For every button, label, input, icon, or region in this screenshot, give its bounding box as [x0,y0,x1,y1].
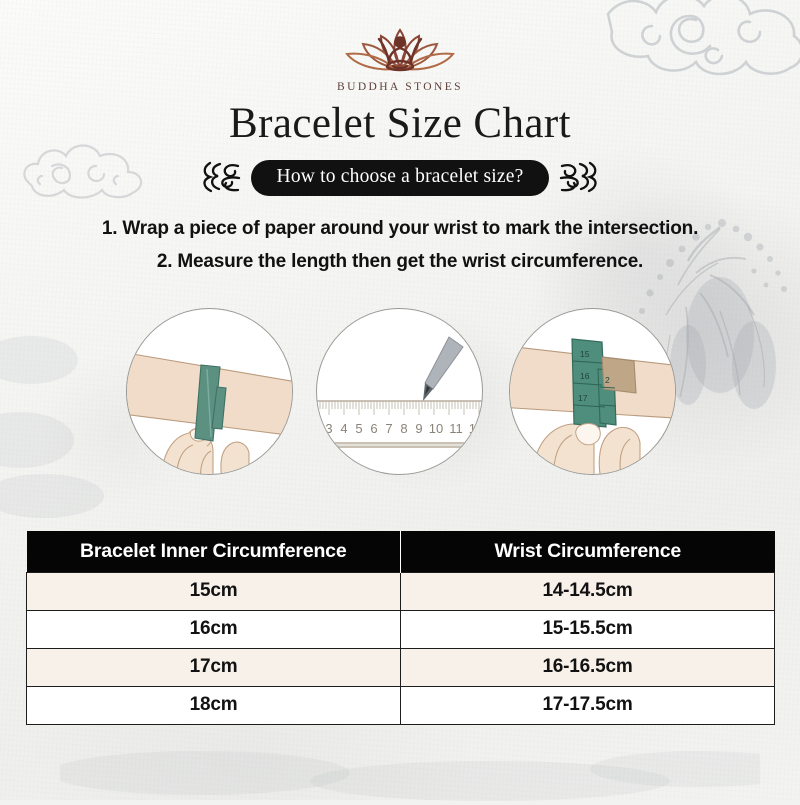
illustration-wrap-paper [126,308,293,475]
svg-text:3: 3 [325,421,332,436]
cell-bracelet-size: 17cm [27,648,401,686]
svg-text:8: 8 [400,421,407,436]
page-title: Bracelet Size Chart [0,99,800,148]
svg-text:5: 5 [355,421,362,436]
cell-bracelet-size: 18cm [27,686,401,724]
instruction-step-1: 1. Wrap a piece of paper around your wri… [0,212,800,245]
banner-text: How to choose a bracelet size? [251,160,550,196]
table-row: 15cm 14-14.5cm [27,572,775,610]
cell-wrist-size: 16-16.5cm [401,648,775,686]
svg-text:15: 15 [580,349,590,359]
illustration-tape-measure: 15 16 17 2 [509,308,676,475]
instruction-step-2: 2. Measure the length then get the wrist… [0,245,800,278]
brand-logo: BUDDHA STONES [0,22,800,93]
column-header-wrist-circumference: Wrist Circumference [401,531,775,572]
ruler-and-pencil-icon: 34 56 78 910 1112 [317,309,483,475]
instruction-steps: 1. Wrap a piece of paper around your wri… [0,212,800,278]
lotus-meditation-icon [337,22,463,80]
table-header-row: Bracelet Inner Circumference Wrist Circu… [27,531,775,572]
svg-text:6: 6 [370,421,377,436]
size-chart-page: BUDDHA STONES Bracelet Size Chart How to… [0,0,800,800]
table-row: 17cm 16-16.5cm [27,648,775,686]
banner-row: How to choose a bracelet size? [0,160,800,196]
cell-wrist-size: 14-14.5cm [401,572,775,610]
table-row: 18cm 17-17.5cm [27,686,775,724]
cell-wrist-size: 15-15.5cm [401,610,775,648]
column-header-bracelet-inner-circumference: Bracelet Inner Circumference [27,531,401,572]
flourish-ornament-left-icon [198,161,242,195]
svg-text:12: 12 [469,421,483,436]
svg-text:10: 10 [429,421,443,436]
svg-text:7: 7 [385,421,392,436]
wrist-with-paper-strip-icon [127,309,293,475]
svg-text:16: 16 [580,371,590,381]
cell-wrist-size: 17-17.5cm [401,686,775,724]
svg-text:2: 2 [605,375,610,385]
illustration-ruler: 34 56 78 910 1112 [316,308,483,475]
cell-bracelet-size: 16cm [27,610,401,648]
svg-text:4: 4 [340,421,347,436]
svg-text:17: 17 [578,393,588,403]
table-row: 16cm 15-15.5cm [27,610,775,648]
tape-measure-on-wrist-icon: 15 16 17 2 [510,309,676,475]
size-table: Bracelet Inner Circumference Wrist Circu… [26,531,775,725]
ink-wash-mist-bottom-decoration [60,735,760,805]
brand-name: BUDDHA STONES [0,81,800,93]
illustration-row: 34 56 78 910 1112 [0,308,800,488]
cell-bracelet-size: 15cm [27,572,401,610]
svg-text:11: 11 [449,421,463,436]
flourish-ornament-right-icon [558,161,602,195]
svg-text:9: 9 [415,421,422,436]
